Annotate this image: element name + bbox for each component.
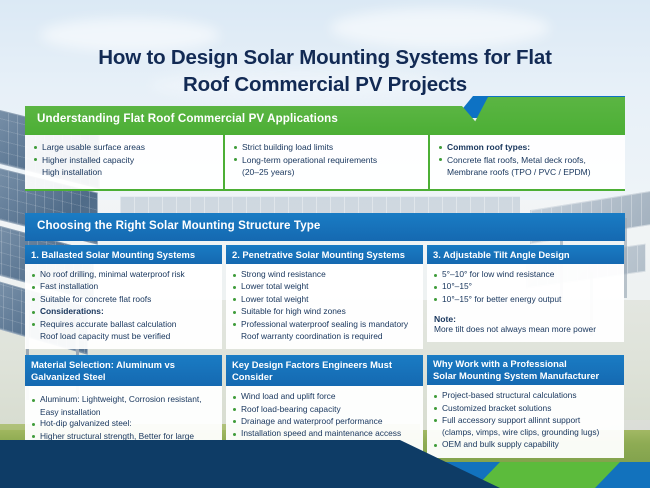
- section1-body: Large usable surface areas Higher instal…: [25, 135, 625, 191]
- list-item: Strong wind resistance: [232, 269, 417, 281]
- list-item: Membrane roofs (TPO / PVC / EPDM): [438, 166, 617, 178]
- list-item: Wind load and uplift force: [232, 391, 417, 403]
- card-column-1: 1. Ballasted Solar Mounting Systems No r…: [25, 245, 222, 349]
- green-header-band-right: [468, 97, 625, 135]
- list-item: Long-term operational requirements: [233, 154, 420, 166]
- page-title: How to Design Solar Mounting Systems for…: [0, 44, 650, 98]
- list-item: Higher installed capacity: [33, 154, 215, 166]
- list-item: Lower total weight: [232, 294, 417, 306]
- list-item: 10°–15°: [433, 281, 618, 293]
- section1-title: Understanding Flat Roof Commercial PV Ap…: [37, 112, 338, 125]
- slide-canvas: How to Design Solar Mounting Systems for…: [0, 0, 650, 488]
- footer-band-navy: [0, 440, 500, 488]
- list-item: 10°–15° for better energy output: [433, 294, 618, 306]
- card-tilt-angle: 3. Adjustable Tilt Angle Design 5°–10° f…: [427, 245, 624, 342]
- page-title-line2: Roof Commercial PV Projects: [0, 71, 650, 98]
- note-text: More tilt does not always mean more powe…: [434, 324, 618, 336]
- footer-decoration: [0, 428, 650, 488]
- card-heading-line2: Solar Mounting System Manufacturer: [433, 370, 618, 382]
- section-understanding: Understanding Flat Roof Commercial PV Ap…: [25, 106, 625, 191]
- page-title-line1: How to Design Solar Mounting Systems for…: [98, 46, 551, 69]
- list-item: Full accessory support allinnt support: [433, 415, 618, 427]
- section1-column-1: Large usable surface areas Higher instal…: [25, 135, 225, 189]
- card-column-2: 2. Penetrative Solar Mounting Systems St…: [226, 245, 423, 349]
- card-heading: 1. Ballasted Solar Mounting Systems: [25, 245, 222, 264]
- list-item: (20–25 years): [233, 166, 420, 178]
- list-item: High installation: [33, 166, 215, 178]
- section1-column-2: Strict building load limits Long-term op…: [225, 135, 430, 189]
- list-item: Concrete flat roofs, Metal deck roofs,: [438, 154, 617, 166]
- card-continuation: Roof warranty coordination is required: [232, 331, 417, 343]
- list-item: Suitable for high wind zones: [232, 306, 417, 318]
- list-item: Roof load-bearing capacity: [232, 404, 417, 416]
- card-heading: Key Design Factors Engineers Must Consid…: [226, 355, 423, 386]
- card-body: 5°–10° for low wind resistance 10°–15° 1…: [427, 264, 624, 342]
- list-item: Fast installation: [31, 281, 216, 293]
- card-ballasted: 1. Ballasted Solar Mounting Systems No r…: [25, 245, 222, 349]
- list-item: Strict building load limits: [233, 141, 420, 153]
- list-item: Requires accurate ballast calculation: [31, 319, 216, 331]
- note-label: Note:: [434, 314, 618, 324]
- card-continuation: Roof load capacity must be verified: [31, 331, 216, 343]
- card-heading-line1: Why Work with a Professional: [433, 358, 618, 370]
- card-heading: 2. Penetrative Solar Mounting Systems: [226, 245, 423, 264]
- list-item: Customized bracket solutions: [433, 403, 618, 415]
- card-note: Note: More tilt does not always mean mor…: [433, 314, 618, 336]
- card-heading: 3. Adjustable Tilt Angle Design: [427, 245, 624, 264]
- list-item: No roof drilling, minimal waterproof ris…: [31, 269, 216, 281]
- cloud-wisp: [330, 8, 550, 48]
- list-item: Aluminum: Lightweight, Corrosion resista…: [31, 394, 216, 406]
- card-heading: Material Selection: Aluminum vs Galvaniz…: [25, 355, 222, 386]
- card-row-1: 1. Ballasted Solar Mounting Systems No r…: [25, 245, 625, 349]
- list-item: Common roof types:: [438, 141, 617, 153]
- list-item: 5°–10° for low wind resistance: [433, 269, 618, 281]
- section1-column-3: Common roof types: Concrete flat roofs, …: [430, 135, 625, 189]
- list-item: Drainage and waterproof performance: [232, 416, 417, 428]
- card-body: Strong wind resistance Lower total weigh…: [226, 264, 423, 349]
- card-heading: Why Work with a Professional Solar Mount…: [427, 355, 624, 385]
- list-item: Professional waterproof sealing is manda…: [232, 319, 417, 331]
- list-item-label: Considerations:: [40, 306, 104, 316]
- list-item: Lower total weight: [232, 281, 417, 293]
- section1-band: Understanding Flat Roof Commercial PV Ap…: [25, 106, 625, 135]
- list-item: Project-based structural calculations: [433, 390, 618, 402]
- list-item: Large usable surface areas: [33, 141, 215, 153]
- section2-band: Choosing the Right Solar Mounting Struct…: [25, 213, 625, 241]
- list-item-label: Common roof types:: [447, 142, 530, 152]
- list-item: Considerations:: [31, 306, 216, 318]
- card-body: No roof drilling, minimal waterproof ris…: [25, 264, 222, 349]
- card-column-3: 3. Adjustable Tilt Angle Design 5°–10° f…: [427, 245, 624, 349]
- card-penetrative: 2. Penetrative Solar Mounting Systems St…: [226, 245, 423, 349]
- list-item: Suitable for concrete flat roofs: [31, 294, 216, 306]
- section2-title: Choosing the Right Solar Mounting Struct…: [37, 219, 320, 232]
- card-subline: Easy installation: [31, 407, 216, 419]
